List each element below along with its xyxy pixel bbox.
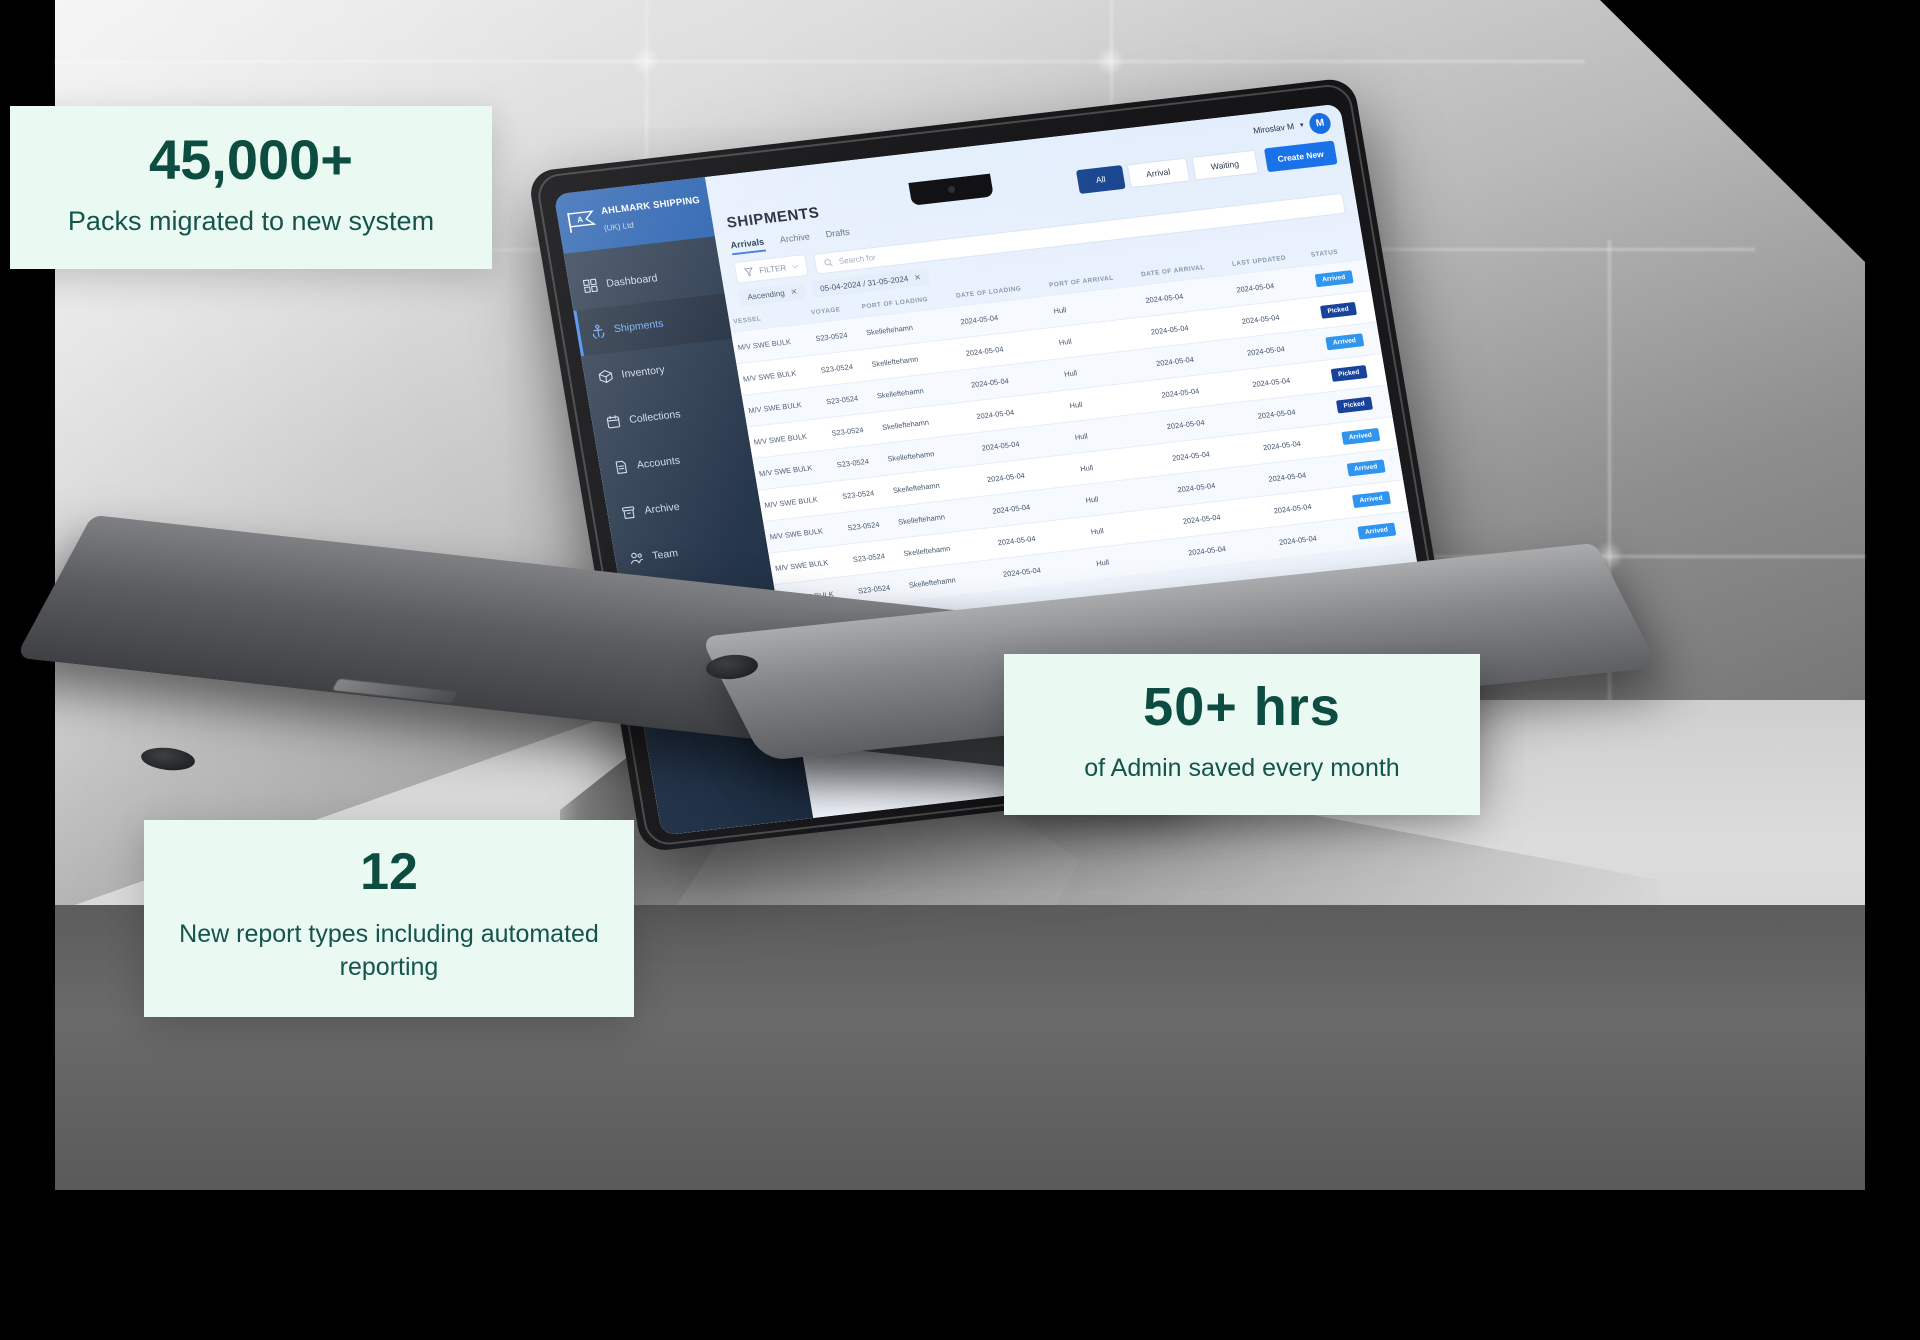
filter-dropdown[interactable]: FILTER ⌵ [733,254,808,284]
stat-number: 12 [174,846,604,898]
filter-chip[interactable]: Ascending✕ [738,282,807,306]
flag-icon: A [564,207,598,236]
brand-name: AHLMARK SHIPPING [600,195,701,217]
status-badge: Arrived [1314,270,1353,287]
anchor-icon [590,323,606,338]
chevron-down-icon: ⌵ [791,261,799,272]
close-icon[interactable]: ✕ [790,287,798,297]
sidebar-item-label: Inventory [621,364,666,381]
sidebar-item-label: Collections [628,408,681,426]
segment-arrival[interactable]: Arrival [1126,158,1190,189]
sidebar-item-label: Archive [644,501,681,517]
chip-label: 05-04-2024 / 31-05-2024 [819,274,909,293]
status-badge: Arrived [1352,491,1391,508]
status-badge: Arrived [1341,428,1380,445]
svg-text:A: A [576,215,583,225]
chip-label: Ascending [747,289,786,302]
sidebar-item-label: Shipments [613,318,664,336]
stat-label: of Admin saved every month [1034,752,1450,785]
status-badge: Picked [1330,365,1367,382]
filter-icon [744,267,754,277]
status-badge: Arrived [1346,459,1385,476]
filter-label: FILTER [758,263,786,275]
users-icon [628,550,644,565]
document-icon [613,460,629,475]
segment-all[interactable]: All [1076,165,1125,194]
grid-icon [582,278,598,293]
sidebar-item-label: Accounts [636,455,681,472]
user-name[interactable]: Miroslav M [1252,121,1295,136]
brand-subtitle: (UK) Ltd [603,221,634,233]
cell-status: Arrived [1351,511,1413,549]
composite-scene: A AHLMARK SHIPPING (UK) Ltd DashboardShi… [0,0,1920,1340]
status-badge: Arrived [1357,523,1396,540]
segment-waiting[interactable]: Waiting [1191,150,1259,181]
stat-card-reports: 12 New report types including automated … [144,820,634,1017]
search-placeholder: Search for [838,252,876,265]
stat-label: New report types including automated rep… [174,918,604,983]
calendar-icon [605,414,621,429]
page-title: SHIPMENTS [725,204,820,231]
search-icon [823,257,833,267]
laptop-foot [140,745,196,773]
status-badge: Picked [1336,397,1373,414]
archive-icon [621,505,637,520]
chevron-down-icon[interactable]: ▾ [1299,121,1304,129]
sidebar-item-label: Team [651,547,679,562]
avatar[interactable]: M [1308,111,1332,134]
stat-number: 50+ hrs [1034,680,1450,734]
sidebar-item-label: Dashboard [605,272,658,290]
stat-number: 45,000+ [40,132,462,188]
status-badge: Picked [1320,302,1357,319]
stat-card-hours: 50+ hrs of Admin saved every month [1004,654,1480,815]
status-badge: Arrived [1325,333,1364,350]
create-new-button[interactable]: Create New [1264,141,1338,173]
close-icon[interactable]: ✕ [913,273,921,283]
stat-label: Packs migrated to new system [40,204,462,239]
stat-card-packs: 45,000+ Packs migrated to new system [10,106,492,269]
box-icon [598,369,614,384]
